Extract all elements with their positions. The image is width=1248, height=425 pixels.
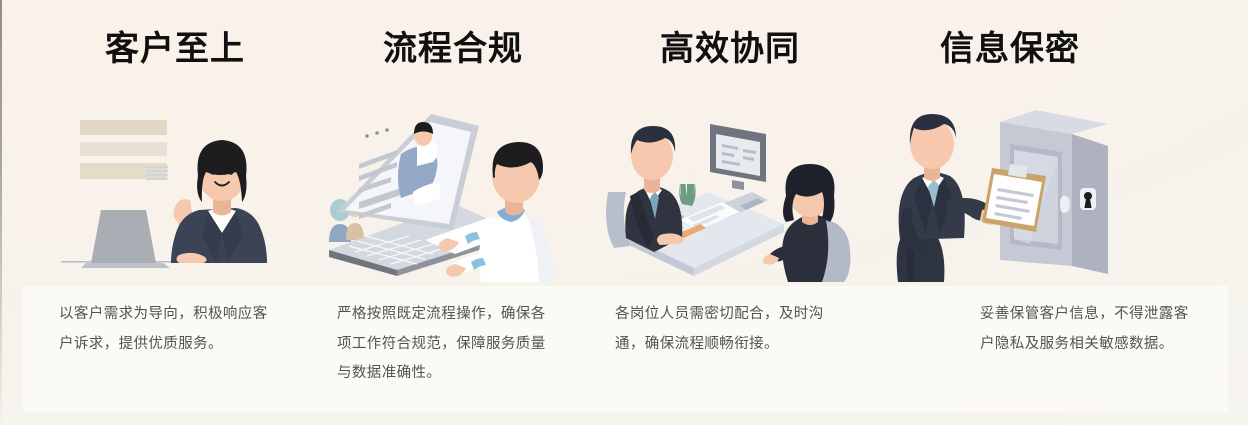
column-title: 高效协同 <box>660 28 800 71</box>
column-title: 流程合规 <box>383 28 523 71</box>
team-meeting-at-desk-illustration <box>588 92 878 282</box>
feature-column-process-compliance[interactable]: 流程合规 <box>305 0 595 425</box>
column-description: 各岗位人员需密切配合，及时沟通，确保流程顺畅衔接。 <box>615 300 830 359</box>
column-title: 信息保密 <box>940 28 1080 71</box>
confidential-documents-safe-illustration <box>870 92 1160 282</box>
infographic-canvas: 客户至上 <box>0 0 1248 425</box>
column-description: 妥善保管客户信息，不得泄露客户隐私及服务相关敏感数据。 <box>980 300 1195 359</box>
column-title: 客户至上 <box>105 28 245 71</box>
compliance-review-on-laptop-illustration <box>305 92 595 282</box>
service-agent-at-laptop-illustration <box>23 92 313 282</box>
column-description: 严格按照既定流程操作，确保各项工作符合规范，保障服务质量与数据准确性。 <box>337 300 552 389</box>
column-description: 以客户需求为导向，积极响应客户诉求，提供优质服务。 <box>59 300 274 359</box>
